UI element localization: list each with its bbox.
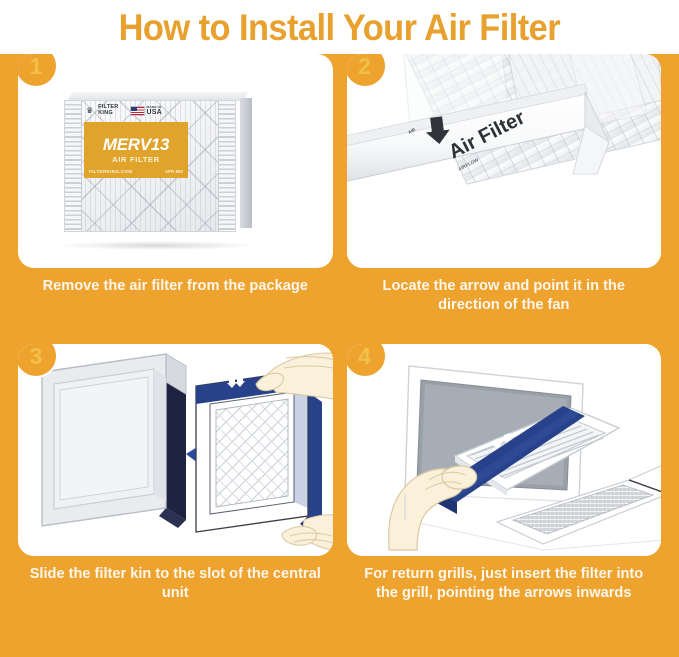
merv-rating: MERV13 [84, 136, 188, 153]
made-in-usa-mark: MADE IN USA [130, 106, 162, 116]
filter-corner-with-airflow-arrow-photo: AIR Air Filter AIRFLOW [347, 54, 662, 268]
step-caption-2: Locate the arrow and point it in the dir… [347, 268, 662, 316]
step-caption-3: Slide the filter kin to the slot of the … [18, 556, 333, 604]
product-type: AIR FILTER [84, 155, 188, 164]
pleat-left [65, 101, 82, 231]
how-to-install-air-filter-infographic: How to Install Your Air Filter [0, 0, 679, 657]
step-panel-2: AIR Air Filter AIRFLOW [347, 54, 662, 344]
box-side-edge [240, 98, 252, 228]
slide-filter-into-central-unit-illustration [18, 344, 333, 556]
brand-row: ♛ FILTER KING MA [86, 104, 196, 118]
page-title: How to Install Your Air Filter [119, 9, 560, 46]
step-panel-4: 4 For return grills, just insert the fil… [347, 344, 662, 657]
filter-corner-svg: AIR Air Filter AIRFLOW [347, 54, 662, 268]
website-text: FILTERKING.COM [89, 169, 132, 174]
header-band: How to Install Your Air Filter [0, 0, 679, 54]
central-unit [42, 354, 186, 528]
step-panel-1: ♛ FILTER KING MA [18, 54, 333, 344]
step-1-card: ♛ FILTER KING MA [18, 54, 333, 268]
step-panel-3: 3 Slide the filter kin to the slot of th… [18, 344, 333, 657]
step-4-card: 4 [347, 344, 662, 556]
air-filter-product-box-photo: ♛ FILTER KING MA [18, 54, 333, 268]
product-label: MERV13 AIR FILTER FILTERKING.COM APR 850 [84, 122, 188, 178]
insert-filter-into-return-grill-illustration [347, 344, 662, 556]
step-caption-1: Remove the air filter from the package [18, 268, 333, 296]
slide-filter-svg [18, 344, 333, 556]
usa-flag-icon [130, 106, 145, 116]
filter-box: ♛ FILTER KING MA [64, 92, 252, 232]
crown-icon: ♛ [86, 107, 93, 115]
apr-rating: APR 850 [165, 169, 183, 174]
box-shadow [58, 241, 258, 250]
usa-text: USA [147, 109, 162, 116]
step-3-card: 3 [18, 344, 333, 556]
steps-grid: ♛ FILTER KING MA [0, 54, 679, 657]
step-caption-4: For return grills, just insert the filte… [347, 556, 662, 604]
step-2-card: AIR Air Filter AIRFLOW [347, 54, 662, 268]
return-grill-svg [347, 344, 662, 556]
pleat-right [218, 101, 235, 231]
brand-name: FILTER KING [98, 105, 118, 117]
